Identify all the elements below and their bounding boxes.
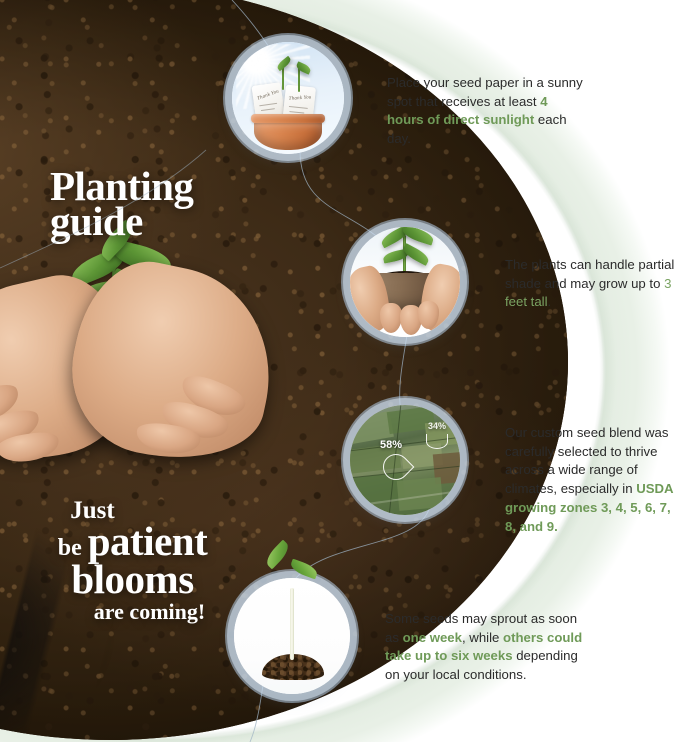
page-title-line-2: guide [50, 203, 143, 241]
sprout-stem [298, 68, 300, 92]
step-3-image: 58% 34% [350, 405, 460, 515]
sprout-stem [290, 588, 294, 660]
terracotta-pot-rim [251, 114, 325, 123]
card-script-text: Thank You [289, 95, 312, 102]
growth-value: 34% [428, 421, 446, 431]
poster-canvas: Planting guide Just be patient blooms ar… [0, 0, 679, 742]
step-4-highlight-1: one week [403, 630, 462, 645]
step-3-text: Our custom seed blend was carefully sele… [505, 424, 679, 536]
step-4-run-3: , while [462, 630, 503, 645]
closing-slogan: Just be patient blooms are coming! [25, 498, 240, 625]
step-4-text: Some seeds may sprout as soon as one wee… [385, 610, 590, 685]
step-1-run-1: Place your seed paper in a sunny spot th… [387, 75, 583, 109]
step-2-run-3: . [548, 294, 552, 309]
step-1-image: Thank You Thank You [232, 42, 344, 154]
step-1-text: Place your seed paper in a sunny spot th… [387, 74, 587, 149]
step-2-image [350, 227, 460, 337]
step-2-text: The plants can handle partial shade and … [505, 256, 675, 312]
step-2-run-1: The plants can handle partial shade and … [505, 257, 674, 291]
sprout-icon [426, 434, 448, 449]
card-script-text: Thank You [257, 89, 280, 102]
step-4-image [234, 578, 350, 694]
moisture-value: 58% [380, 439, 402, 451]
